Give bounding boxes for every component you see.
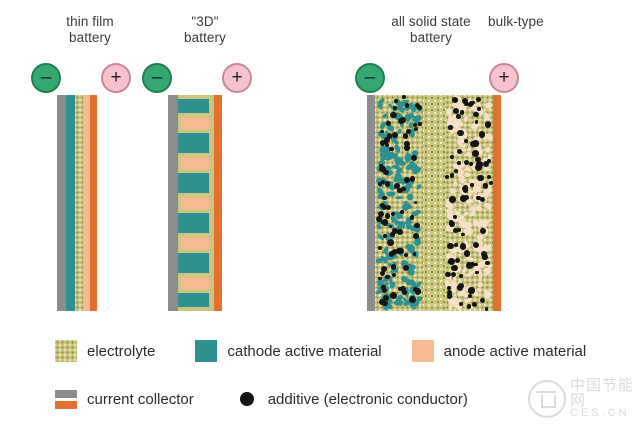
- additive-particle: [387, 239, 394, 246]
- composite-grain: [463, 116, 469, 123]
- layer-current-collector-positive: [214, 95, 222, 311]
- additive-particle: [457, 284, 464, 291]
- legend-row-components: current collector additive (electronic c…: [55, 388, 468, 410]
- watermark-en-text: CES.CN: [570, 408, 640, 419]
- terminal-negative-bulk: –: [355, 63, 385, 93]
- composite-grain: [416, 183, 423, 190]
- additive-particle: [467, 304, 472, 309]
- additive-particle: [457, 161, 461, 165]
- additive-particle: [485, 261, 489, 265]
- additive-particle: [379, 166, 386, 173]
- electrolyte-cap-top: [178, 95, 214, 99]
- title-bulk-type: bulk-type: [488, 14, 583, 30]
- legend-label-additive: additive (electronic conductor): [268, 391, 468, 408]
- watermark-cn-text: 中国节能网: [570, 378, 640, 408]
- comb-teeth-group: [178, 95, 214, 311]
- composite-grain: [396, 196, 403, 200]
- composite-grain: [477, 234, 484, 240]
- composite-grain: [485, 101, 493, 109]
- terminal-negative-3d: –: [142, 63, 172, 93]
- additive-particle: [445, 272, 450, 277]
- additive-particle: [469, 162, 473, 166]
- additive-particle: [487, 175, 491, 179]
- additive-particle: [390, 292, 397, 299]
- additive-particle: [457, 130, 463, 136]
- additive-particle: [449, 196, 456, 203]
- additive-particle: [390, 112, 397, 119]
- anode-swatch-icon: [412, 340, 434, 362]
- additive-particle: [472, 150, 479, 157]
- additive-particle: [404, 253, 408, 257]
- additive-particle: [378, 246, 382, 250]
- additive-particle: [392, 132, 398, 138]
- additive-particle: [382, 301, 388, 307]
- additive-particle: [481, 251, 487, 257]
- composite-grain: [417, 115, 422, 121]
- additive-particle: [397, 229, 403, 235]
- additive-particle: [460, 243, 467, 250]
- composite-grain: [381, 113, 389, 120]
- terminal-positive-3d: +: [222, 63, 252, 93]
- legend-row-materials: electrolyte cathode active material anod…: [55, 340, 586, 362]
- composite-grain: [398, 128, 402, 134]
- layer-current-collector-positive: [493, 95, 501, 311]
- electrolyte-vertical-film: [209, 95, 214, 311]
- additive-particle: [457, 149, 462, 154]
- additive-particle: [394, 99, 398, 103]
- anode-composite-region: [445, 95, 493, 311]
- additive-particle: [401, 187, 405, 191]
- composite-grain: [485, 245, 492, 250]
- legend-item-electrolyte: electrolyte: [55, 340, 155, 362]
- legend-item-current-collector: current collector: [55, 388, 194, 410]
- additive-particle: [386, 121, 391, 126]
- composite-grain: [449, 187, 457, 195]
- additive-particle: [461, 233, 465, 237]
- additive-particle: [450, 155, 454, 159]
- composite-grain: [452, 180, 459, 187]
- additive-particle: [480, 298, 485, 303]
- additive-particle: [475, 164, 482, 171]
- composite-grain: [485, 146, 491, 153]
- additive-particle: [418, 122, 422, 126]
- three-d-battery-stack: [168, 95, 222, 311]
- cathode-swatch-icon: [195, 340, 217, 362]
- additive-particle: [382, 196, 386, 200]
- layer-current-collector-negative: [367, 95, 375, 311]
- legend-label-anode: anode active material: [444, 343, 587, 360]
- additive-particle: [392, 273, 397, 278]
- additive-particle: [451, 265, 457, 271]
- additive-particle: [410, 215, 415, 220]
- composite-grain: [391, 164, 400, 169]
- current-collector-swatch-icon: [55, 388, 77, 410]
- composite-grain: [464, 171, 471, 178]
- composite-grain: [466, 256, 475, 262]
- additive-particle: [398, 118, 404, 124]
- title-all-solid-state-battery: all solid state battery: [372, 14, 490, 46]
- additive-particle: [381, 266, 388, 273]
- additive-particle: [483, 183, 489, 189]
- additive-particle: [445, 175, 449, 179]
- watermark: 中国节能网 CES.CN: [528, 378, 640, 419]
- layer-anode-active-material: [83, 95, 90, 311]
- additive-dot-icon: [236, 388, 258, 410]
- additive-particle: [473, 242, 479, 248]
- composite-grain: [475, 205, 483, 213]
- additive-particle: [382, 288, 387, 293]
- additive-particle: [454, 243, 458, 247]
- additive-particle: [385, 213, 391, 219]
- electrolyte-swatch-icon: [55, 340, 77, 362]
- legend-item-additive: additive (electronic conductor): [236, 388, 468, 410]
- composite-grain: [479, 270, 483, 279]
- additive-particle: [477, 175, 483, 181]
- title-3d-battery: "3D" battery: [150, 14, 260, 46]
- layer-solid-electrolyte-separator: [423, 95, 445, 311]
- cathode-composite-region: [375, 95, 423, 311]
- additive-particle: [447, 293, 453, 299]
- additive-particle: [413, 287, 418, 292]
- additive-particle: [415, 103, 420, 108]
- additive-particle: [456, 114, 461, 119]
- terminal-positive-thin-film: +: [101, 63, 131, 93]
- additive-particle: [468, 294, 472, 298]
- layer-current-collector-negative: [168, 95, 178, 311]
- additive-particle: [473, 112, 479, 118]
- additive-particle: [472, 302, 477, 307]
- composite-grain: [407, 193, 414, 200]
- additive-particle: [411, 155, 417, 161]
- additive-particle: [398, 248, 404, 254]
- composite-grain: [379, 103, 383, 111]
- additive-particle: [480, 228, 486, 234]
- layer-electrolyte: [75, 95, 83, 311]
- additive-particle: [470, 141, 477, 148]
- title-thin-film-battery: thin film battery: [30, 14, 150, 46]
- composite-grain: [463, 297, 472, 304]
- additive-particle: [414, 127, 419, 132]
- composite-grain: [483, 111, 491, 121]
- additive-particle: [390, 232, 395, 237]
- additive-particle: [414, 201, 418, 205]
- additive-particle: [460, 110, 465, 115]
- additive-particle: [389, 147, 394, 152]
- additive-particle: [447, 286, 451, 290]
- terminal-positive-bulk: +: [489, 63, 519, 93]
- three-d-interdigitated-core: [178, 95, 214, 311]
- additive-particle: [485, 121, 492, 128]
- additive-particle: [476, 97, 481, 102]
- legend-item-cathode: cathode active material: [195, 340, 381, 362]
- additive-particle: [448, 258, 455, 265]
- terminal-negative-thin-film: –: [31, 63, 61, 93]
- additive-particle: [449, 221, 455, 227]
- additive-particle: [410, 176, 415, 181]
- legend-item-anode: anode active material: [412, 340, 587, 362]
- composite-grain: [388, 304, 393, 310]
- composite-grain: [469, 211, 476, 217]
- additive-particle: [404, 177, 410, 183]
- bulk-type-battery-stack: [367, 95, 501, 311]
- additive-particle: [469, 101, 474, 106]
- additive-particle: [413, 252, 417, 256]
- additive-particle: [385, 181, 390, 186]
- ces-logo-icon: [528, 380, 566, 418]
- legend-label-current-collector: current collector: [87, 391, 194, 408]
- additive-particle: [459, 274, 464, 279]
- composite-grain: [376, 258, 383, 264]
- additive-particle: [448, 125, 453, 130]
- additive-particle: [485, 307, 489, 311]
- legend-label-electrolyte: electrolyte: [87, 343, 155, 360]
- additive-particle: [404, 141, 410, 147]
- additive-particle: [413, 233, 419, 239]
- additive-particle: [479, 131, 486, 138]
- additive-particle: [489, 181, 493, 185]
- composite-grain: [387, 192, 396, 197]
- additive-particle: [464, 139, 468, 143]
- electrolyte-cap-bottom: [178, 307, 214, 311]
- additive-particle: [400, 210, 404, 214]
- additive-particle: [464, 160, 469, 165]
- thin-film-battery-stack: [57, 95, 97, 311]
- additive-particle: [447, 243, 454, 250]
- additive-particle: [450, 173, 455, 178]
- additive-particle: [468, 287, 474, 293]
- additive-particle: [403, 133, 409, 139]
- composite-grain: [483, 202, 493, 212]
- composite-grain: [384, 155, 392, 161]
- layer-current-collector-negative: [57, 95, 66, 311]
- diagram-canvas: thin film battery "3D" battery all solid…: [0, 0, 640, 426]
- additive-particle: [454, 169, 458, 173]
- additive-particle: [385, 143, 389, 147]
- layer-cathode-active-material: [66, 95, 75, 311]
- additive-particle: [459, 302, 463, 306]
- composite-grain: [466, 270, 475, 278]
- additive-particle: [380, 203, 385, 208]
- layer-current-collector-positive: [90, 95, 97, 311]
- additive-particle: [400, 286, 406, 292]
- additive-particle: [460, 195, 467, 202]
- legend-label-cathode: cathode active material: [227, 343, 381, 360]
- composite-grain: [476, 101, 481, 106]
